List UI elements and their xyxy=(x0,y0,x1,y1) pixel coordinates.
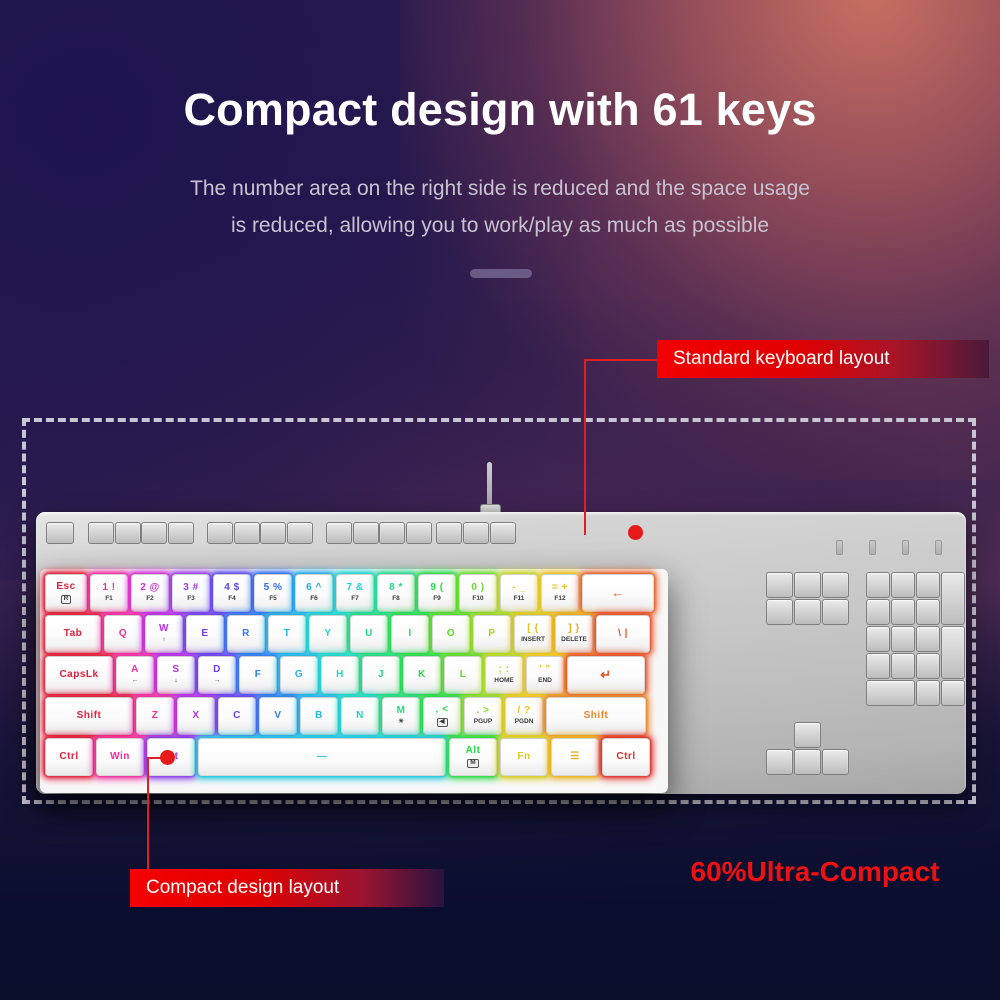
key-legend: C xyxy=(233,711,241,722)
key-legend: Shift xyxy=(77,711,102,722)
key--r2c13[interactable]: ] }DELETE xyxy=(555,615,593,653)
leader-line-standard-horizontal xyxy=(584,359,659,361)
key-sublegend: F6 xyxy=(310,596,318,603)
key-3-r1c4[interactable]: 3 #F3 xyxy=(172,574,210,612)
key-e-r2c4[interactable]: E xyxy=(186,615,224,653)
fullsize-indicator-led xyxy=(869,540,876,555)
key-legend: U xyxy=(365,629,373,640)
fullsize-key-f1 xyxy=(88,522,114,544)
key-legend: ↵ xyxy=(600,668,611,682)
key-c-r4c4[interactable]: C xyxy=(218,697,256,735)
key-8-r1c9[interactable]: 8 *F8 xyxy=(377,574,415,612)
fullsize-key-numpad xyxy=(866,572,890,598)
fullsize-key-f12 xyxy=(406,522,432,544)
key--r1c14[interactable]: ← xyxy=(582,574,654,612)
fullsize-key-arrow-down xyxy=(794,749,821,775)
key-sublegend: F5 xyxy=(269,596,277,603)
key-legend: CapsLk xyxy=(59,670,98,681)
key-g-r3c6[interactable]: G xyxy=(280,656,318,694)
key--r3c13[interactable]: ↵ xyxy=(567,656,645,694)
key--r2c14[interactable]: \ | xyxy=(596,615,650,653)
key-legend: R xyxy=(242,629,250,640)
key-sublegend: M xyxy=(467,759,478,768)
fullsize-indicator-led xyxy=(902,540,909,555)
key-j-r3c8[interactable]: J xyxy=(362,656,400,694)
key-legend: 7 & xyxy=(346,583,363,594)
key-legend: Z xyxy=(152,711,159,722)
key-d-r3c4[interactable]: D→ xyxy=(198,656,236,694)
key-x-r4c3[interactable]: X xyxy=(177,697,215,735)
callout-dot-standard xyxy=(628,525,643,540)
key--r2c12[interactable]: [ {INSERT xyxy=(514,615,552,653)
fullsize-key-pause xyxy=(490,522,516,544)
fullsize-key-nav-top xyxy=(766,572,793,598)
key-7-r1c8[interactable]: 7 &F7 xyxy=(336,574,374,612)
key-legend: - _ xyxy=(512,583,525,594)
fullsize-key-f6 xyxy=(234,522,260,544)
fullsize-key-nav-top xyxy=(822,572,849,598)
key-sublegend: F4 xyxy=(228,596,236,603)
key-sublegend: PGUP xyxy=(474,719,492,726)
fullsize-key-numpad xyxy=(866,653,890,679)
key-legend: G xyxy=(295,670,303,681)
key-legend: V xyxy=(274,711,281,722)
key-sublegend: END xyxy=(538,678,552,685)
key--r1c12[interactable]: - _F11 xyxy=(500,574,538,612)
key-legend: ☰ xyxy=(570,752,579,763)
key-q-r2c2[interactable]: Q xyxy=(104,615,142,653)
key-legend: [ { xyxy=(527,624,539,635)
key-legend: A xyxy=(131,665,139,676)
key-m-r4c8[interactable]: M☀ xyxy=(382,697,420,735)
fullsize-key-arrow-right xyxy=(822,749,849,775)
key-s-r3c3[interactable]: S↓ xyxy=(157,656,195,694)
key-row-3: CapsLkA←S↓D→FGHJKL; :HOME' "END↵ xyxy=(45,656,663,694)
key-shift-r4c12[interactable]: Shift xyxy=(546,697,646,735)
key-w-r2c3[interactable]: W↑ xyxy=(145,615,183,653)
key-fn-r5c6[interactable]: Fn xyxy=(500,738,548,776)
fullsize-key-scroll xyxy=(463,522,489,544)
fullsize-key-nav-top xyxy=(794,572,821,598)
key-legend: P xyxy=(488,629,495,640)
fullsize-key-numpad xyxy=(916,626,940,652)
key-ctrl-r5c1[interactable]: Ctrl xyxy=(45,738,93,776)
key-legend: ' " xyxy=(539,665,550,676)
key-sublegend: ☀ xyxy=(398,719,404,726)
fullsize-key-numpad xyxy=(941,680,965,706)
key-sublegend: F9 xyxy=(433,596,441,603)
key-legend: — xyxy=(317,752,328,763)
key-legend: N xyxy=(356,711,364,722)
key-legend: 8 * xyxy=(389,583,403,594)
key-legend: . > xyxy=(477,706,490,717)
fullsize-key-numpad xyxy=(891,653,915,679)
key-legend: Tab xyxy=(64,629,83,640)
key-sublegend: F12 xyxy=(554,596,565,603)
key-o-r2c10[interactable]: O xyxy=(432,615,470,653)
key-legend: L xyxy=(460,670,467,681)
key--r3c11[interactable]: ; :HOME xyxy=(485,656,523,694)
key-sublegend: ↓ xyxy=(174,678,177,685)
key-sublegend: F8 xyxy=(392,596,400,603)
key-legend: M xyxy=(397,706,406,717)
fullsize-key-f9 xyxy=(326,522,352,544)
key-y-r2c7[interactable]: Y xyxy=(309,615,347,653)
fullsize-key-f11 xyxy=(379,522,405,544)
key-f-r3c5[interactable]: F xyxy=(239,656,277,694)
key-sublegend: → xyxy=(214,678,221,685)
callout-standard-layout: Standard keyboard layout xyxy=(657,340,989,378)
key-sublegend: F1 xyxy=(105,596,113,603)
key-5-r1c6[interactable]: 5 %F5 xyxy=(254,574,292,612)
key-legend: Esc xyxy=(56,582,75,593)
key-legend: ← xyxy=(611,586,625,600)
key--r4c10[interactable]: . >PGUP xyxy=(464,697,502,735)
key--r5c4[interactable]: — xyxy=(198,738,446,776)
fullsize-key-print xyxy=(436,522,462,544)
key-sublegend: F3 xyxy=(187,596,195,603)
key-legend: ; : xyxy=(499,665,510,676)
leader-line-standard-vertical xyxy=(584,360,586,535)
fullsize-key-nav-bottom xyxy=(794,599,821,625)
key-p-r2c11[interactable]: P xyxy=(473,615,511,653)
fullsize-key-numpad xyxy=(891,599,915,625)
key-legend: Shift xyxy=(584,711,609,722)
fullsize-indicator-led xyxy=(836,540,843,555)
key-i-r2c9[interactable]: I xyxy=(391,615,429,653)
key-4-r1c5[interactable]: 4 $F4 xyxy=(213,574,251,612)
key-legend: 4 $ xyxy=(224,583,239,594)
key-b-r4c6[interactable]: B xyxy=(300,697,338,735)
key-legend: 1 ! xyxy=(102,583,115,594)
fullsize-key-numpad xyxy=(941,572,965,625)
key-sublegend: F11 xyxy=(514,596,525,603)
key-legend: Ctrl xyxy=(59,752,78,763)
fullsize-key-f7 xyxy=(260,522,286,544)
key-h-r3c7[interactable]: H xyxy=(321,656,359,694)
compact-keyboard-rows: EscR1 !F12 @F23 #F34 $F45 %F56 ^F67 &F78… xyxy=(45,574,663,788)
key-legend: \ | xyxy=(618,629,628,640)
key-legend: H xyxy=(336,670,344,681)
key-legend: 5 % xyxy=(264,583,283,594)
key-legend: 3 # xyxy=(183,583,198,594)
key-legend: T xyxy=(284,629,291,640)
key-sublegend: R xyxy=(61,595,72,604)
key-legend: , < xyxy=(436,705,449,716)
key-legend: Fn xyxy=(517,752,530,763)
fullsize-key-f8 xyxy=(287,522,313,544)
key-1-r1c2[interactable]: 1 !F1 xyxy=(90,574,128,612)
key-sublegend: ↑ xyxy=(162,637,165,644)
page-subtitle: The number area on the right side is red… xyxy=(100,170,900,244)
key-legend: 0 ) xyxy=(471,583,484,594)
key-legend: J xyxy=(378,670,384,681)
fullsize-key-f10 xyxy=(353,522,379,544)
subtitle-line-2: is reduced, allowing you to work/play as… xyxy=(231,214,769,237)
fullsize-key-arrow-up xyxy=(794,722,821,748)
key--r4c9[interactable]: , <◀ xyxy=(423,697,461,735)
key-2-r1c3[interactable]: 2 @F2 xyxy=(131,574,169,612)
key-row-5: CtrlWinAlt—AltMFn☰Ctrl xyxy=(45,738,663,776)
key-legend: Ctrl xyxy=(616,752,635,763)
key-win-r5c2[interactable]: Win xyxy=(96,738,144,776)
key-legend: 9 ( xyxy=(430,583,443,594)
key-legend: B xyxy=(315,711,323,722)
key-legend: D xyxy=(213,665,221,676)
key-capslk-r3c1[interactable]: CapsLk xyxy=(45,656,113,694)
fullsize-key-numpad xyxy=(916,680,940,706)
key-6-r1c7[interactable]: 6 ^F6 xyxy=(295,574,333,612)
fullsize-key-esc xyxy=(46,522,74,544)
key-row-4: ShiftZXCVBNM☀, <◀. >PGUP/ ?PGDNShift xyxy=(45,697,663,735)
fullsize-key-nav-bottom xyxy=(822,599,849,625)
key-legend: F xyxy=(255,670,262,681)
key-n-r4c7[interactable]: N xyxy=(341,697,379,735)
key-legend: X xyxy=(192,711,199,722)
key-legend: Win xyxy=(110,752,130,763)
fullsize-key-nav-bottom xyxy=(766,599,793,625)
key-legend: O xyxy=(447,629,455,640)
key-row-1: EscR1 !F12 @F23 #F34 $F45 %F56 ^F67 &F78… xyxy=(45,574,663,612)
fullsize-key-arrow-left xyxy=(766,749,793,775)
key-sublegend: F2 xyxy=(146,596,154,603)
fullsize-key-numpad xyxy=(866,626,890,652)
key-sublegend: F7 xyxy=(351,596,359,603)
fullsize-key-f5 xyxy=(207,522,233,544)
key--r1c13[interactable]: = +F12 xyxy=(541,574,579,612)
key-legend: Alt xyxy=(466,746,481,757)
key-a-r3c2[interactable]: A← xyxy=(116,656,154,694)
key-ctrl-r5c8[interactable]: Ctrl xyxy=(602,738,650,776)
key-z-r4c2[interactable]: Z xyxy=(136,697,174,735)
key-sublegend: ← xyxy=(132,678,139,685)
key-t-r2c6[interactable]: T xyxy=(268,615,306,653)
key-legend: ] } xyxy=(568,624,580,635)
key-legend: I xyxy=(408,629,411,640)
fullsize-key-f4 xyxy=(168,522,194,544)
key-legend: Q xyxy=(119,629,127,640)
fullsize-key-numpad xyxy=(941,626,965,679)
key-legend: = + xyxy=(552,583,568,594)
key-shift-r4c1[interactable]: Shift xyxy=(45,697,133,735)
key-sublegend: HOME xyxy=(494,678,514,685)
key-0-r1c11[interactable]: 0 )F10 xyxy=(459,574,497,612)
key-legend: E xyxy=(201,629,208,640)
key-9-r1c10[interactable]: 9 (F9 xyxy=(418,574,456,612)
fullsize-key-numpad xyxy=(916,653,940,679)
product-banner: Compact design with 61 keys The number a… xyxy=(0,0,1000,1000)
page-title: Compact design with 61 keys xyxy=(0,84,1000,136)
key-legend: 6 ^ xyxy=(306,583,322,594)
key-legend: S xyxy=(172,665,179,676)
key-legend: / ? xyxy=(517,706,530,717)
fullsize-indicator-led xyxy=(935,540,942,555)
fullsize-key-numpad xyxy=(891,626,915,652)
key-alt-r5c5[interactable]: AltM xyxy=(449,738,497,776)
callout-compact-layout: Compact design layout xyxy=(130,869,444,907)
key-legend: 2 @ xyxy=(140,583,160,594)
fullsize-key-numpad xyxy=(866,599,890,625)
fullsize-key-numpad xyxy=(891,572,915,598)
divider-pill xyxy=(470,269,532,278)
key-esc-r1c1[interactable]: EscR xyxy=(45,574,87,612)
key-r-r2c5[interactable]: R xyxy=(227,615,265,653)
key-k-r3c9[interactable]: K xyxy=(403,656,441,694)
key-u-r2c8[interactable]: U xyxy=(350,615,388,653)
fullsize-key-numpad xyxy=(916,599,940,625)
key-v-r4c5[interactable]: V xyxy=(259,697,297,735)
subtitle-line-1: The number area on the right side is red… xyxy=(190,177,810,200)
key-sublegend: F10 xyxy=(472,596,483,603)
key-sublegend: DELETE xyxy=(561,637,587,644)
key-row-2: TabQW↑ERTYUIOP[ {INSERT] }DELETE\ | xyxy=(45,615,663,653)
key-sublegend: ◀ xyxy=(437,718,448,727)
key--r3c12[interactable]: ' "END xyxy=(526,656,564,694)
key-tab-r2c1[interactable]: Tab xyxy=(45,615,101,653)
key--r5c7[interactable]: ☰ xyxy=(551,738,599,776)
fullsize-key-f3 xyxy=(141,522,167,544)
fullsize-key-f2 xyxy=(115,522,141,544)
key-legend: K xyxy=(418,670,426,681)
fullsize-key-numpad xyxy=(916,572,940,598)
ultra-compact-label: 60%Ultra-Compact xyxy=(660,856,970,888)
callout-dot-compact xyxy=(160,750,175,765)
key-l-r3c10[interactable]: L xyxy=(444,656,482,694)
key-legend: Y xyxy=(324,629,331,640)
key-legend: W xyxy=(159,624,169,635)
key-sublegend: INSERT xyxy=(521,637,545,644)
key--r4c11[interactable]: / ?PGDN xyxy=(505,697,543,735)
compact-keyboard-60: EscR1 !F12 @F23 #F34 $F45 %F56 ^F67 &F78… xyxy=(40,569,668,793)
fullsize-key-numpad xyxy=(866,680,915,706)
key-sublegend: PGDN xyxy=(515,719,534,726)
